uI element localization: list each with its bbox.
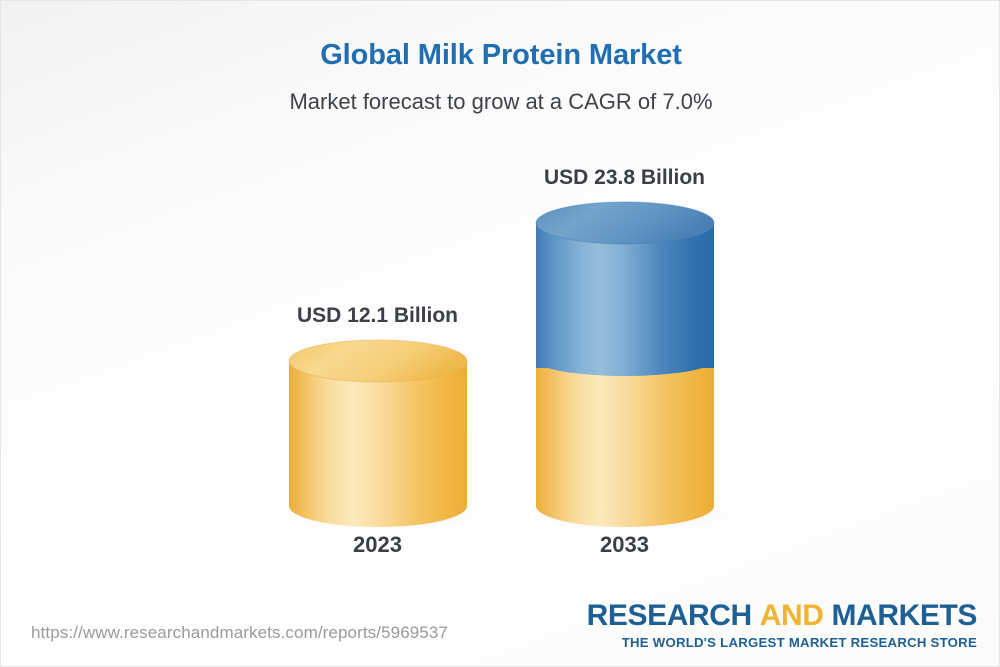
page-subtitle: Market forecast to grow at a CAGR of 7.0… [1, 89, 1000, 115]
axis-label-2033: 2033 [536, 532, 713, 558]
page-title: Global Milk Protein Market [1, 39, 1000, 72]
bar-body-2033 [536, 223, 714, 527]
axis-label-2023: 2023 [289, 532, 466, 558]
data-label-2023: USD 12.1 Billion [256, 304, 499, 328]
logo-wordmark: RESEARCH AND MARKETS [587, 601, 977, 631]
research-and-markets-logo[interactable]: RESEARCH AND MARKETS THE WORLD'S LARGEST… [587, 601, 977, 649]
bar-cylinder-2023 [281, 336, 481, 531]
bar-body-2023 [289, 361, 467, 527]
logo-tagline: THE WORLD'S LARGEST MARKET RESEARCH STOR… [587, 636, 977, 649]
logo-word-markets: MARKETS [831, 599, 977, 632]
data-label-2033: USD 23.8 Billion [503, 166, 746, 190]
source-url[interactable]: https://www.researchandmarkets.com/repor… [31, 623, 448, 643]
logo-word-and: AND [760, 599, 824, 632]
bar-cylinder-2033 [528, 198, 728, 531]
logo-word-research: RESEARCH [587, 599, 752, 632]
infographic-canvas: Global Milk Protein Market Market foreca… [0, 0, 1000, 667]
